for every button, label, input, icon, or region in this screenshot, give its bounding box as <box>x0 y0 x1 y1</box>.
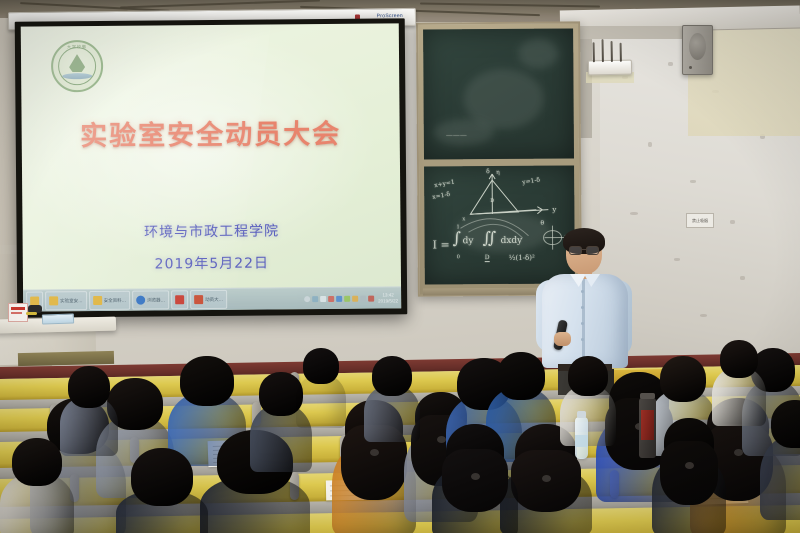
audience-member <box>432 424 518 533</box>
hair-tie <box>542 475 551 482</box>
audience-head <box>497 352 545 400</box>
audience-head <box>12 438 62 486</box>
audience-member <box>296 348 346 428</box>
audience-head <box>303 348 339 384</box>
audience-member <box>116 448 208 533</box>
audience-head <box>568 356 608 396</box>
audience-head <box>131 448 193 506</box>
audience-member <box>652 418 726 533</box>
audience-member <box>364 356 420 442</box>
audience-long-hair <box>442 449 508 512</box>
thermos-flask <box>639 398 656 458</box>
audience-head <box>68 366 110 408</box>
lecture-hall-photo: 禁止吸烟 ——— <box>0 0 800 533</box>
water-bottle <box>575 417 588 459</box>
audience-head <box>771 400 800 448</box>
hair-tie <box>685 462 694 469</box>
audience-head <box>180 356 234 406</box>
audience-head <box>660 356 706 402</box>
audience-head <box>720 340 758 378</box>
audience-long-hair <box>660 441 718 506</box>
audience-member <box>760 400 800 520</box>
audience-member <box>60 366 118 456</box>
audience-member <box>712 340 766 426</box>
audience-head <box>372 356 412 396</box>
audience-member <box>560 356 616 446</box>
audience-group <box>0 0 800 533</box>
